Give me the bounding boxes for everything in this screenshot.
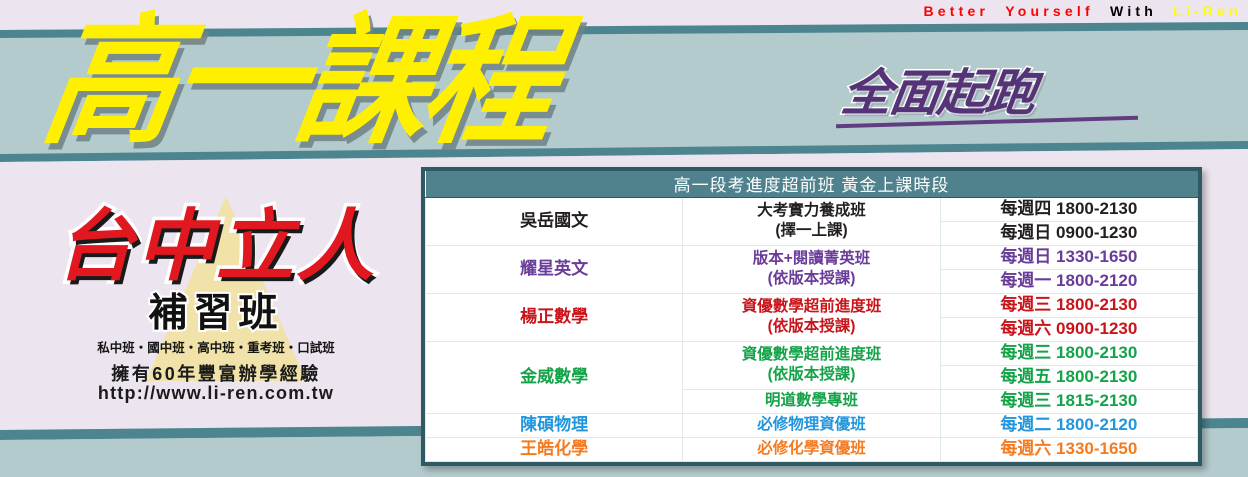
timeslot-cell: 每週二 1800-2120 — [940, 413, 1197, 437]
teacher-cell: 王皓化學 — [426, 437, 683, 461]
course-note: (依版本授課) — [685, 317, 937, 337]
course-title: 版本+閱讀菁英班 — [685, 249, 937, 269]
timeslot-cell: 每週六 1330-1650 — [940, 437, 1197, 461]
teacher-cell: 陳碩物理 — [426, 413, 683, 437]
timeslot-cell: 每週六 0900-1230 — [940, 317, 1197, 341]
logo-website-url[interactable]: http://www.li-ren.com.tw — [26, 383, 406, 404]
table-row: 金威數學資優數學超前進度班(依版本授課)每週三 1800-2130 — [426, 341, 1198, 365]
course-note: (依版本授課) — [685, 269, 937, 289]
table-row: 耀星英文版本+閱讀菁英班(依版本授課)每週日 1330-1650 — [426, 245, 1198, 269]
course-note: (擇一上課) — [685, 221, 937, 241]
table-row: 王皓化學必修化學資優班每週六 1330-1650 — [426, 437, 1198, 461]
timeslot-cell: 每週三 1800-2130 — [940, 293, 1197, 317]
page-subtitle: 全面起跑 — [838, 66, 1038, 120]
course-title: 必修化學資優班 — [685, 439, 937, 459]
course-title: 大考實力養成班 — [685, 201, 937, 221]
course-cell: 資優數學超前進度班(依版本授課) — [683, 341, 940, 389]
course-cell: 必修物理資優班 — [683, 413, 940, 437]
course-note: (依版本授課) — [685, 365, 937, 385]
course-title: 資優數學超前進度班 — [685, 345, 937, 365]
logo: 台中立人 補習班 私中班・國中班・高中班・重考班・口試班 擁有60年豐富辦學經驗… — [26, 196, 406, 411]
timeslot-cell: 每週五 1800-2130 — [940, 365, 1197, 389]
course-cell: 資優數學超前進度班(依版本授課) — [683, 293, 940, 341]
timeslot-cell: 每週一 1800-2120 — [940, 269, 1197, 293]
teacher-cell: 耀星英文 — [426, 245, 683, 293]
schedule-header-title: 高一段考進度超前班 黃金上課時段 — [426, 171, 1198, 197]
course-cell: 明道數學專班 — [683, 389, 940, 413]
course-cell: 大考實力養成班(擇一上課) — [683, 197, 940, 245]
page-title: 高一課程 — [34, 8, 562, 156]
course-title: 必修物理資優班 — [685, 415, 937, 435]
timeslot-cell: 每週日 1330-1650 — [940, 245, 1197, 269]
course-cell: 版本+閱讀菁英班(依版本授課) — [683, 245, 940, 293]
tagline-part2: Yourself — [1005, 3, 1094, 19]
teacher-cell: 金威數學 — [426, 341, 683, 413]
table-header-row: 高一段考進度超前班 黃金上課時段 — [426, 171, 1198, 197]
tagline: Better Yourself With Li-Ren — [0, 0, 1248, 24]
tagline-part4: Li-Ren — [1173, 3, 1242, 19]
timeslot-cell: 每週四 1800-2130 — [940, 197, 1197, 221]
timeslot-cell: 每週三 1800-2130 — [940, 341, 1197, 365]
schedule-table: 高一段考進度超前班 黃金上課時段 吳岳國文大考實力養成班(擇一上課)每週四 18… — [425, 171, 1198, 462]
table-row: 楊正數學資優數學超前進度班(依版本授課)每週三 1800-2130 — [426, 293, 1198, 317]
timeslot-cell: 每週三 1815-2130 — [940, 389, 1197, 413]
logo-brand-sub: 補習班 — [26, 292, 406, 336]
course-title: 資優數學超前進度班 — [685, 297, 937, 317]
table-row: 陳碩物理必修物理資優班每週二 1800-2120 — [426, 413, 1198, 437]
tagline-part1: Better — [923, 3, 989, 19]
course-cell: 必修化學資優班 — [683, 437, 940, 461]
teacher-cell: 楊正數學 — [426, 293, 683, 341]
course-title: 明道數學專班 — [685, 391, 937, 411]
teacher-cell: 吳岳國文 — [426, 197, 683, 245]
schedule-table-container: 高一段考進度超前班 黃金上課時段 吳岳國文大考實力養成班(擇一上課)每週四 18… — [421, 167, 1202, 466]
table-row: 吳岳國文大考實力養成班(擇一上課)每週四 1800-2130 — [426, 197, 1198, 221]
tagline-part3: With — [1110, 3, 1157, 19]
timeslot-cell: 每週日 0900-1230 — [940, 221, 1197, 245]
logo-brand-name: 台中立人 — [26, 204, 406, 290]
logo-class-tags: 私中班・國中班・高中班・重考班・口試班 — [26, 337, 406, 356]
